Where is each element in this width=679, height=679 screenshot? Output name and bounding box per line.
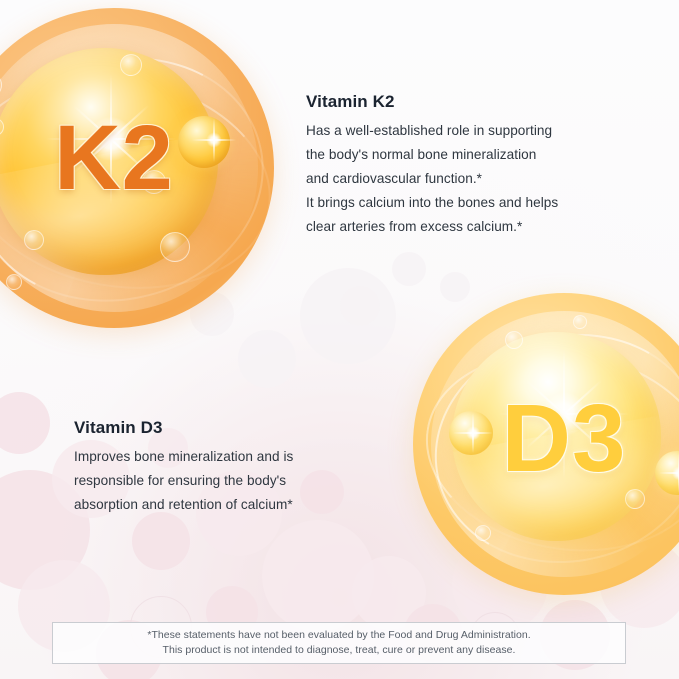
vitamin-d3-text-block: Vitamin D3 Improves bone mineralization … [74,418,394,517]
vitamin-d3-orb: D3 [413,293,679,595]
k2-clear-bubble [24,230,44,250]
body-line: It brings calcium into the bones and hel… [306,195,558,210]
disclaimer-line-2: This product is not intended to diagnose… [163,643,516,658]
vitamin-k2-title: Vitamin K2 [306,92,636,112]
d3-clear-bubble [573,315,587,329]
k2-clear-bubble [120,54,142,76]
d3-clear-bubble [625,489,645,509]
bokeh-circle [392,252,426,286]
vitamin-k2-text-block: Vitamin K2 Has a well-established role i… [306,92,636,239]
vitamin-d3-title: Vitamin D3 [74,418,394,438]
body-line: responsible for ensuring the body's [74,473,286,488]
vitamin-d3-body: Improves bone mineralization and is resp… [74,445,394,517]
bokeh-circle [0,392,50,454]
bokeh-circle [340,286,380,326]
vitamin-k2-orb: K2 [0,8,274,328]
bokeh-circle [238,330,296,388]
vitamin-k2-body: Has a well-established role in supportin… [306,119,636,239]
k2-clear-bubble [6,274,22,290]
fda-disclaimer-box: *These statements have not been evaluate… [52,622,626,664]
bokeh-circle [132,512,190,570]
infographic-page: K2 D3 [0,0,679,679]
body-line: and cardiovascular function.* [306,171,482,186]
d3-clear-bubble [475,525,491,541]
k2-orb-label: K2 [0,112,274,204]
body-line: the body's normal bone mineralization [306,147,536,162]
body-line: clear arteries from excess calcium.* [306,219,522,234]
d3-clear-bubble [505,331,523,349]
d3-orb-label: D3 [413,391,679,487]
disclaimer-line-1: *These statements have not been evaluate… [147,628,530,643]
body-line: Has a well-established role in supportin… [306,123,552,138]
body-line: Improves bone mineralization and is [74,449,293,464]
k2-clear-bubble [160,232,190,262]
body-line: absorption and retention of calcium* [74,497,293,512]
